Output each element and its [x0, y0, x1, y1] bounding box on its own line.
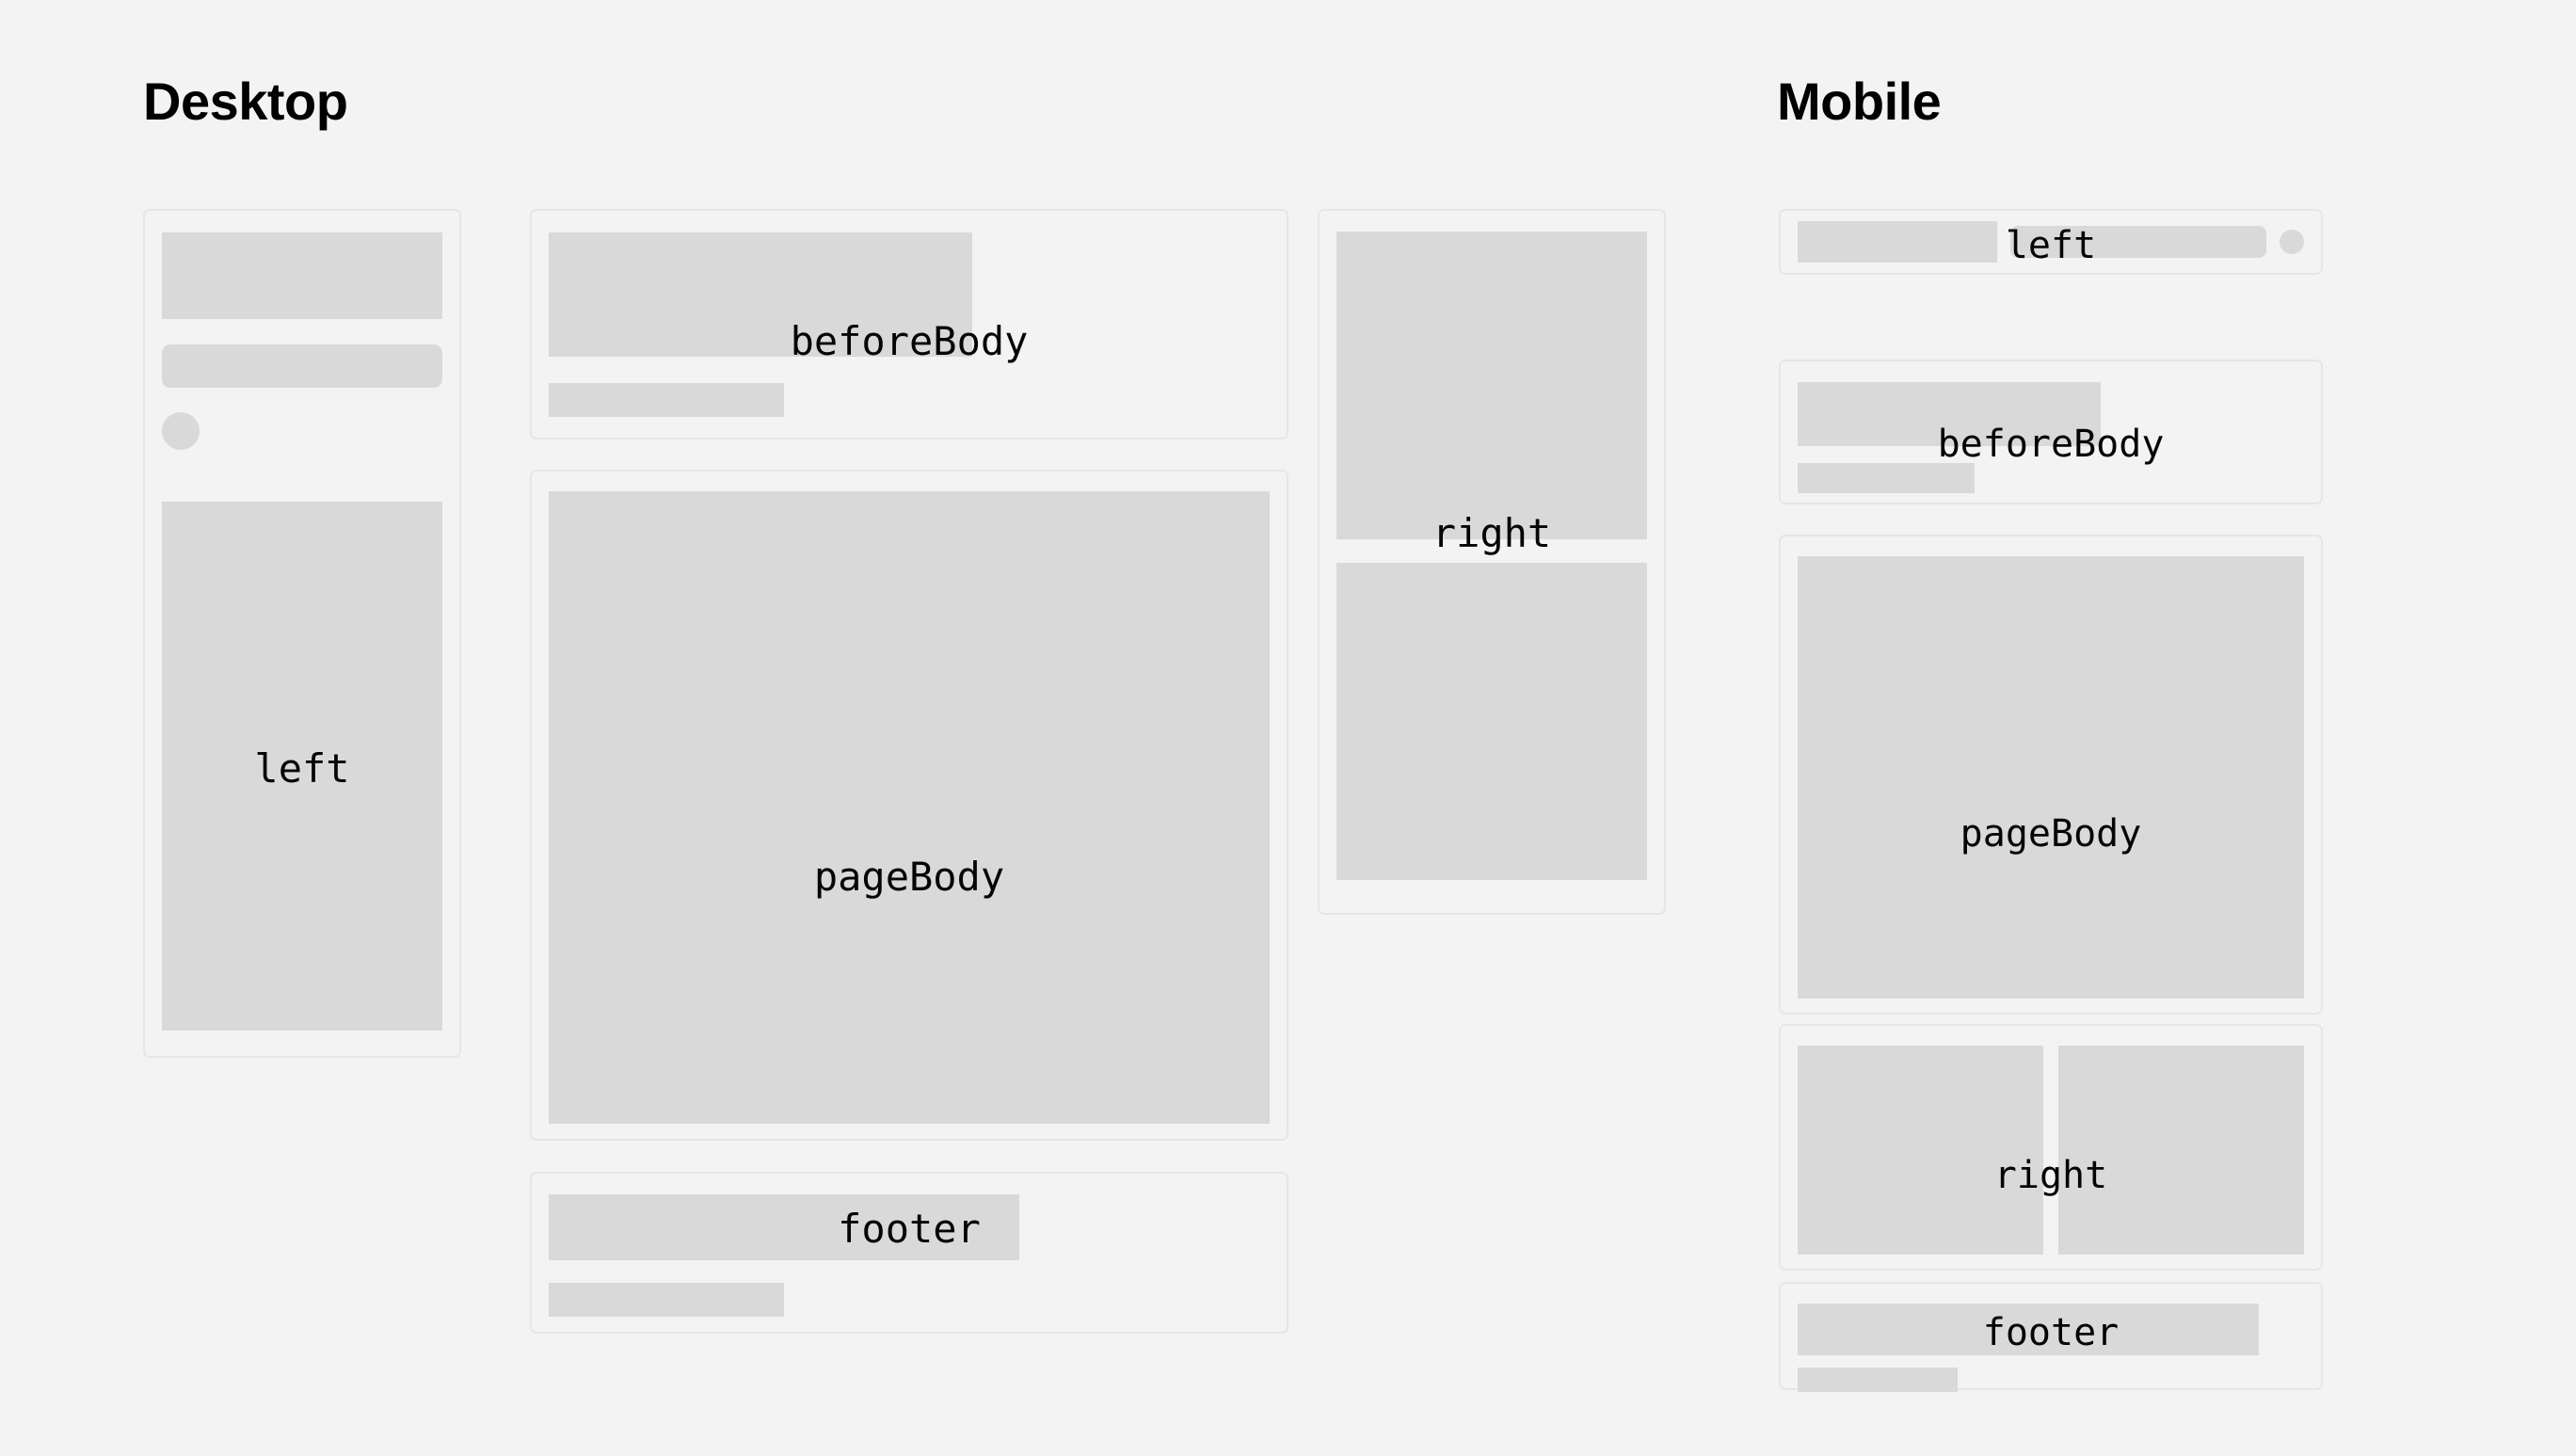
- skeleton-bar-secondary: [549, 1283, 784, 1317]
- skeleton-block-widget-left: [1798, 1046, 2043, 1255]
- desktop-beforebody-slot-panel[interactable]: beforeBody: [530, 209, 1288, 440]
- skeleton-bar-secondary: [1798, 1368, 1958, 1392]
- skeleton-block-primary: [1798, 382, 2101, 446]
- desktop-footer-slot-panel[interactable]: footer: [530, 1172, 1288, 1334]
- skeleton-bar-subheader: [162, 344, 442, 388]
- skeleton-block-nav: [162, 502, 442, 1031]
- skeleton-avatar-circle: [162, 412, 200, 450]
- mobile-beforebody-slot-panel[interactable]: beforeBody: [1779, 360, 2323, 504]
- skeleton-bar-subheader: [2010, 226, 2266, 258]
- desktop-right-slot-panel[interactable]: right: [1318, 209, 1666, 915]
- skeleton-block-widget-bottom: [1336, 563, 1647, 880]
- skeleton-avatar-circle: [2280, 230, 2304, 254]
- skeleton-block-content: [549, 491, 1270, 1124]
- mobile-pagebody-slot-panel[interactable]: pageBody: [1779, 535, 2323, 1015]
- skeleton-block-widget-right: [2058, 1046, 2304, 1255]
- skeleton-block-header: [1798, 221, 1997, 263]
- skeleton-block-header: [162, 232, 442, 319]
- skeleton-bar-secondary: [1798, 463, 1975, 493]
- mobile-left-slot-panel[interactable]: left: [1779, 209, 2323, 275]
- desktop-section-heading: Desktop: [143, 75, 347, 128]
- skeleton-block-content: [1798, 556, 2304, 999]
- skeleton-block-primary: [549, 232, 972, 357]
- mobile-right-slot-panel[interactable]: right: [1779, 1024, 2323, 1271]
- skeleton-block-primary: [549, 1194, 1019, 1260]
- desktop-pagebody-slot-panel[interactable]: pageBody: [530, 470, 1288, 1141]
- skeleton-block-primary: [1798, 1304, 2259, 1355]
- skeleton-bar-secondary: [549, 383, 784, 417]
- wireframe-canvas: Desktop left beforeBody pageBody footer …: [0, 0, 2576, 1456]
- desktop-left-slot-panel[interactable]: left: [143, 209, 461, 1058]
- skeleton-block-widget-top: [1336, 232, 1647, 539]
- mobile-section-heading: Mobile: [1777, 75, 1941, 128]
- mobile-footer-slot-panel[interactable]: footer: [1779, 1282, 2323, 1390]
